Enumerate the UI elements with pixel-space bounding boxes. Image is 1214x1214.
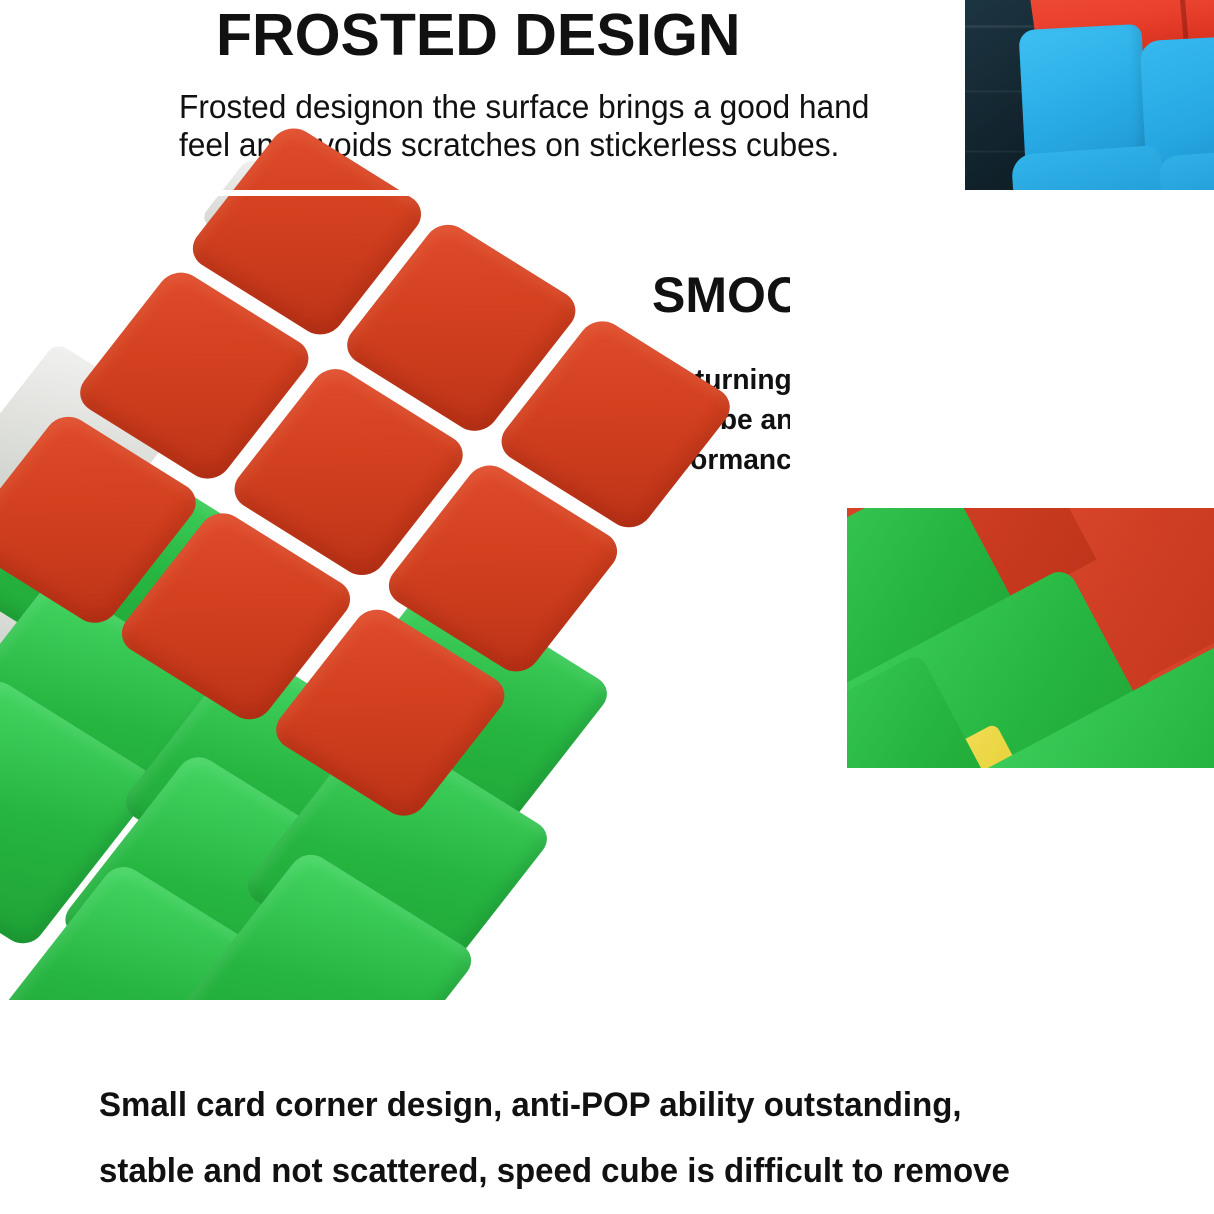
red-green-closeup-inset: [847, 508, 1214, 768]
bottom-caption: Small card corner design, anti-POP abili…: [99, 1072, 1098, 1204]
blue-cube-closeup-inset: [965, 0, 1214, 193]
rubiks-cube-photo: [0, 190, 760, 1020]
right-lower-mask: [790, 768, 1214, 1008]
product-feature-graphic: FROSTED DESIGN Frosted designon the surf…: [0, 0, 1214, 1214]
top-mask: [0, 190, 1214, 196]
frosted-design-heading: FROSTED DESIGN: [216, 6, 741, 65]
right-mask: [790, 190, 1214, 508]
